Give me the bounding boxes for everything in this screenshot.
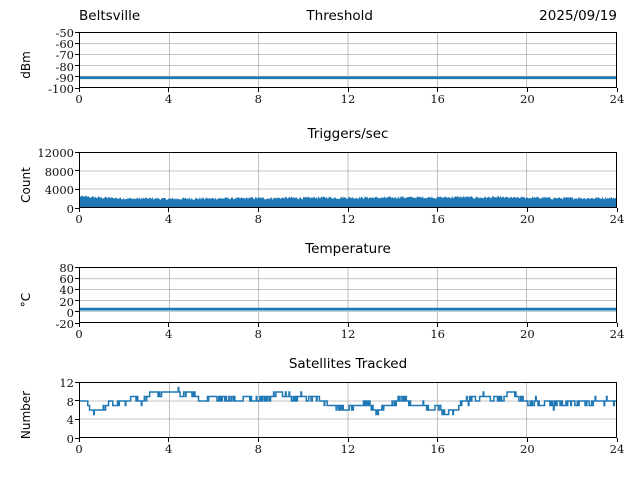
panel-triggers: Triggers/sec Count 12000 8000 4000 0 048… (0, 126, 640, 242)
ytick: 4 (67, 415, 74, 427)
xtick: 16 (430, 329, 445, 341)
panel-triggers-xticks: 04812162024 (0, 212, 640, 226)
figure-canvas: Beltsville Threshold 2025/09/19 dBm -50 … (0, 0, 640, 480)
xtick: 24 (610, 94, 625, 106)
ytick: 8 (67, 397, 74, 409)
panel-temperature-plot (80, 268, 616, 322)
xtick: 20 (520, 214, 535, 226)
xtick: 4 (165, 329, 172, 341)
panel-satellites-plot (80, 383, 616, 437)
panel-satellites-axes (79, 382, 617, 438)
ytick: 12000 (37, 148, 74, 160)
panel-temperature-axes (79, 267, 617, 323)
xtick: 8 (255, 214, 262, 226)
panel-threshold: dBm -50 -60 -70 -80 -90 -100 04812162024 (0, 6, 640, 122)
xtick: 20 (520, 444, 535, 456)
xtick: 0 (75, 214, 82, 226)
ytick: 8000 (45, 167, 74, 179)
xtick: 4 (165, 94, 172, 106)
xtick: 8 (255, 329, 262, 341)
xtick: 4 (165, 444, 172, 456)
xtick: 24 (610, 214, 625, 226)
xtick: 16 (430, 94, 445, 106)
xtick: 12 (341, 214, 356, 226)
xtick: 0 (75, 329, 82, 341)
panel-satellites-title: Satellites Tracked (79, 356, 617, 372)
xtick: 4 (165, 214, 172, 226)
panel-temperature-title: Temperature (79, 241, 617, 257)
xtick: 24 (610, 444, 625, 456)
xtick: 20 (520, 329, 535, 341)
xtick: 24 (610, 329, 625, 341)
panel-temperature: Temperature °C 80 60 40 20 0 -20 0481216… (0, 241, 640, 357)
xtick: 0 (75, 444, 82, 456)
xtick: 8 (255, 444, 262, 456)
panel-satellites-yticks: 12 8 4 0 (30, 356, 74, 476)
data-series (80, 309, 616, 311)
panel-triggers-axes (79, 152, 617, 208)
ytick: 4000 (45, 185, 74, 197)
panel-triggers-title: Triggers/sec (79, 126, 617, 142)
gridlines (80, 268, 616, 322)
xtick: 20 (520, 94, 535, 106)
panel-satellites: Satellites Tracked Number 12 8 4 0 04812… (0, 356, 640, 476)
panel-threshold-axes (79, 32, 617, 88)
xtick: 16 (430, 214, 445, 226)
panel-triggers-plot (80, 153, 616, 207)
xtick: 12 (341, 94, 356, 106)
xtick: 12 (341, 444, 356, 456)
xtick: 12 (341, 329, 356, 341)
xtick: 16 (430, 444, 445, 456)
xtick: 8 (255, 94, 262, 106)
panel-threshold-plot (80, 33, 616, 87)
ytick: 12 (59, 378, 74, 390)
xtick: 0 (75, 94, 82, 106)
panel-satellites-xticks: 04812162024 (0, 442, 640, 456)
panel-temperature-xticks: 04812162024 (0, 327, 640, 341)
panel-threshold-xticks: 04812162024 (0, 92, 640, 106)
